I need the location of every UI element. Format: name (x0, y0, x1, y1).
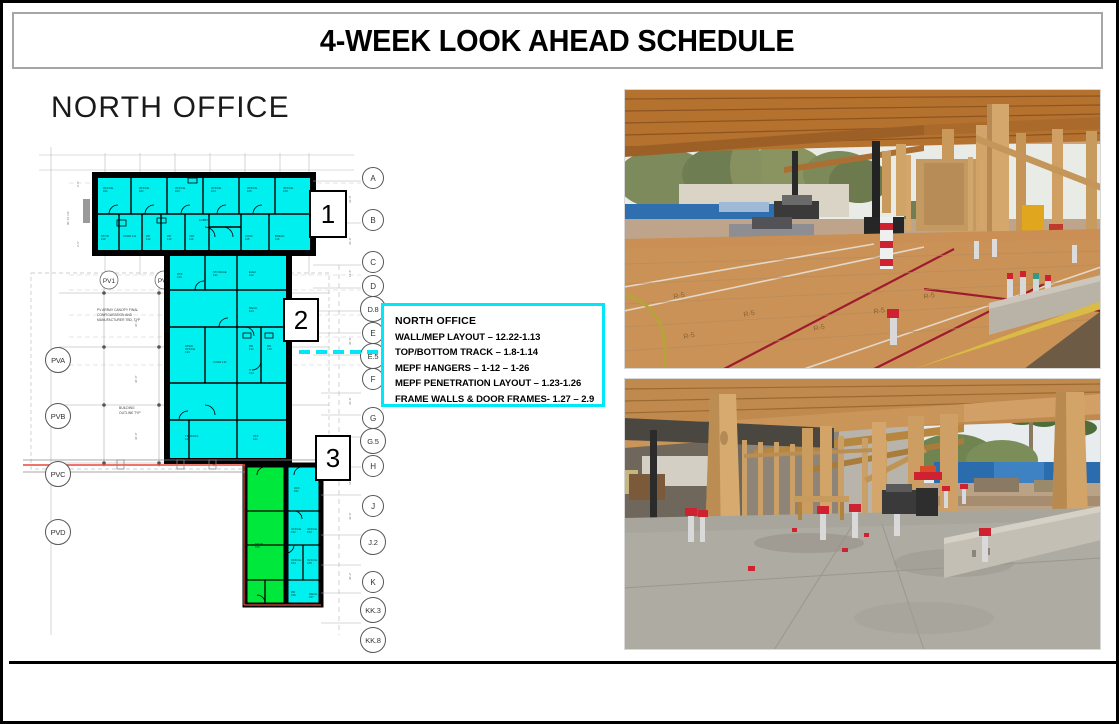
svg-text:110: 110 (101, 237, 106, 241)
svg-text:123: 123 (249, 309, 254, 313)
svg-text:106: 106 (283, 189, 288, 193)
svg-text:30'-0": 30'-0" (134, 375, 138, 383)
site-photo-bottom (624, 378, 1101, 650)
svg-text:30'-0": 30'-0" (134, 432, 138, 440)
svg-text:30'-2": 30'-2" (348, 572, 352, 580)
svg-text:134: 134 (249, 371, 254, 375)
grid-bubble-A: A (362, 167, 384, 189)
zone-marker-1: 1 (309, 190, 347, 238)
site-photo-top: R-5 R-5 R-5 R-5 R-5 R-5 (624, 89, 1101, 369)
grid-bubble-K: K (362, 571, 384, 593)
callout-line-2: TOP/BOTTOM TRACK – 1.8-1.14 (395, 345, 593, 361)
svg-text:141: 141 (253, 437, 258, 441)
svg-text:154: 154 (291, 561, 296, 565)
svg-text:90'-10 1/2": 90'-10 1/2" (66, 211, 70, 225)
callout-line-3: MEPF HANGERS – 1-12 – 1-26 (395, 361, 593, 377)
svg-text:11'-6": 11'-6" (348, 270, 352, 277)
svg-text:132: 132 (249, 347, 254, 351)
svg-text:102: 102 (139, 189, 144, 193)
grid-bubble-J2: J.2 (360, 529, 386, 555)
svg-text:121: 121 (213, 273, 218, 277)
slide-title-box: 4-WEEK LOOK AHEAD SCHEDULE (12, 12, 1103, 69)
svg-text:OUTLINE TYP: OUTLINE TYP (119, 411, 141, 415)
svg-text:122: 122 (249, 273, 254, 277)
slide-canvas: 4-WEEK LOOK AHEAD SCHEDULE NORTH OFFICE (0, 0, 1119, 724)
svg-text:105: 105 (247, 189, 252, 193)
svg-text:155: 155 (307, 561, 312, 565)
grid-bubbles-left: PVA PVB PVC PVD (45, 347, 79, 547)
grid-bubble-PVC: PVC (45, 461, 71, 487)
svg-text:30'-0": 30'-0" (134, 319, 138, 327)
svg-text:104: 104 (211, 189, 216, 193)
svg-text:30'-0": 30'-0" (348, 337, 352, 345)
svg-text:140: 140 (185, 437, 190, 441)
zone-marker-2: 2 (283, 298, 319, 342)
svg-text:32'-0": 32'-0" (348, 237, 352, 245)
svg-text:151: 151 (294, 489, 299, 493)
svg-text:120: 120 (177, 275, 182, 279)
grid-bubble-KK3: KK.3 (360, 597, 386, 623)
svg-text:114: 114 (189, 237, 194, 241)
svg-text:32'-0": 32'-0" (348, 397, 352, 405)
grid-bubble-B: B (362, 209, 384, 231)
svg-text:CONFIGURATION AND: CONFIGURATION AND (97, 313, 133, 317)
svg-text:101: 101 (103, 189, 108, 193)
svg-text:32'-0": 32'-0" (348, 195, 352, 203)
grid-bubble-J: J (362, 495, 384, 517)
grid-bubble-PVB: PVB (45, 403, 71, 429)
svg-text:LOBBY: LOBBY (199, 218, 208, 222)
svg-text:150: 150 (255, 545, 260, 549)
svg-text:2'-6": 2'-6" (76, 181, 80, 187)
svg-text:BUILDING: BUILDING (119, 406, 135, 410)
page-title: 4-WEEK LOOK AHEAD SCHEDULE (320, 23, 795, 59)
svg-text:2'-6": 2'-6" (76, 241, 80, 247)
svg-text:103: 103 (175, 189, 180, 193)
svg-text:156: 156 (291, 593, 296, 597)
svg-text:112: 112 (146, 237, 151, 241)
svg-text:153: 153 (307, 530, 312, 534)
callout-title: NORTH OFFICE (395, 314, 593, 330)
svg-text:130: 130 (185, 350, 190, 354)
svg-text:42'-0": 42'-0" (348, 512, 352, 520)
grid-bubble-G: G (362, 407, 384, 429)
svg-text:133: 133 (267, 347, 272, 351)
svg-text:157: 157 (309, 595, 314, 599)
north-office-callout: NORTH OFFICE WALL/MEP LAYOUT – 12.22-1.1… (381, 303, 605, 407)
svg-text:PV1: PV1 (103, 278, 116, 285)
callout-leader-line (299, 350, 381, 354)
grid-bubble-H: H (362, 455, 384, 477)
grid-bubble-G5: G.5 (360, 428, 386, 454)
svg-text:116: 116 (275, 237, 280, 241)
svg-text:115: 115 (245, 237, 250, 241)
svg-text:113: 113 (167, 237, 172, 241)
grid-bubble-PVA: PVA (45, 347, 71, 373)
svg-text:CORR 111: CORR 111 (123, 234, 137, 238)
svg-text:PV ARRAY CANOPY FINAL: PV ARRAY CANOPY FINAL (97, 308, 138, 312)
grid-bubble-D: D (362, 275, 384, 297)
footer-bar: HENSEL PHELPS Plan. Build. Manage. SoCal… (9, 664, 1116, 718)
grid-bubble-C: C (362, 251, 384, 273)
svg-text:152: 152 (291, 530, 296, 534)
callout-line-5: FRAME WALLS & DOOR FRAMES- 1.27 – 2.9 (395, 392, 593, 408)
grid-bubble-PVD: PVD (45, 519, 71, 545)
grid-bubble-KK8: KK.8 (360, 627, 386, 653)
svg-text:CORR 131: CORR 131 (213, 360, 227, 364)
zone-marker-3: 3 (315, 435, 351, 481)
callout-line-1: WALL/MEP LAYOUT – 12.22-1.13 (395, 330, 593, 346)
callout-line-4: MEPF PENETRATION LAYOUT – 1.23-1.26 (395, 376, 593, 392)
